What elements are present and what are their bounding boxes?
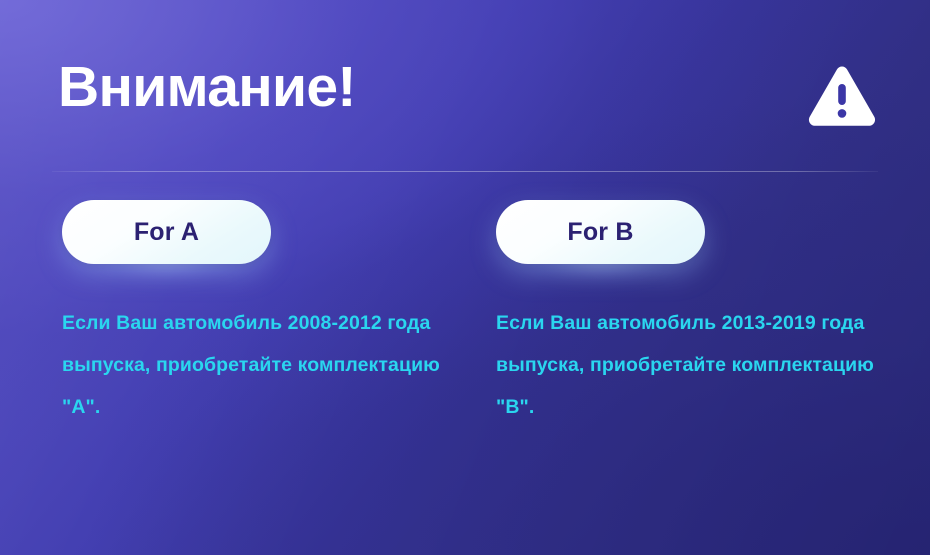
- attention-banner: Внимание! For A Если Ваш автомобиль 2008…: [0, 0, 930, 555]
- for-a-button-wrap: For A: [62, 200, 271, 264]
- warning-triangle-icon: [806, 62, 878, 134]
- option-column-a: For A Если Ваш автомобиль 2008-2012 года…: [62, 200, 496, 428]
- options-row: For A Если Ваш автомобиль 2008-2012 года…: [0, 200, 930, 428]
- option-column-b: For B Если Ваш автомобиль 2013-2019 года…: [496, 200, 930, 428]
- for-a-button[interactable]: For A: [62, 200, 271, 264]
- option-b-description: Если Ваш автомобиль 2013-2019 года выпус…: [496, 302, 876, 428]
- page-title: Внимание!: [58, 57, 356, 117]
- banner-header: Внимание!: [0, 0, 930, 172]
- option-a-description: Если Ваш автомобиль 2008-2012 года выпус…: [62, 302, 442, 428]
- for-b-button[interactable]: For B: [496, 200, 705, 264]
- for-b-button-wrap: For B: [496, 200, 705, 264]
- header-divider: [52, 171, 878, 172]
